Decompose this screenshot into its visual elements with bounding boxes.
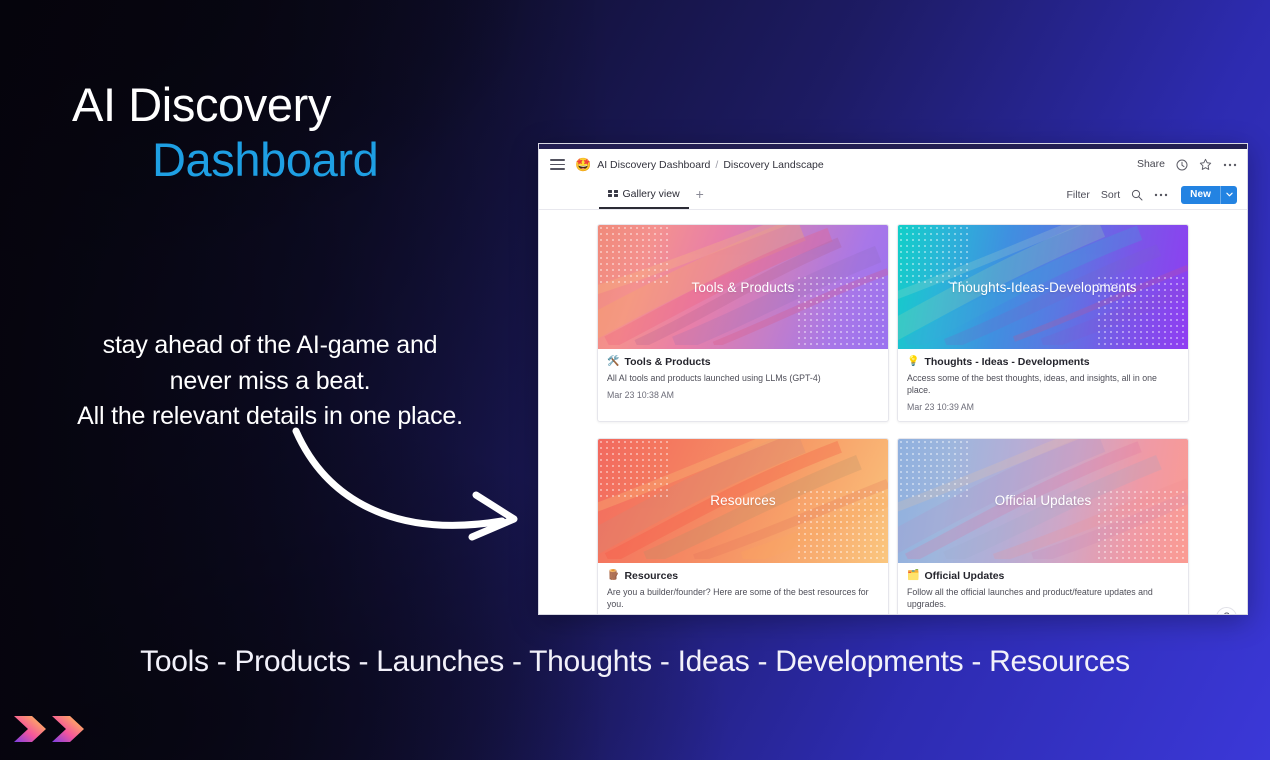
tab-gallery-view-label: Gallery view xyxy=(623,188,680,200)
cover-dot-texture xyxy=(898,225,970,287)
gallery-card[interactable]: Official Updates 🗂️ Official Updates Fol… xyxy=(897,438,1189,615)
page-title: AI Discovery Dashboard xyxy=(72,78,378,187)
cover-dot-texture xyxy=(598,225,670,287)
subcopy-line-2: never miss a beat. xyxy=(0,364,540,400)
card-date: Mar 23 10:39 AM xyxy=(907,402,1179,412)
gallery-grid: Tools & Products 🛠️ Tools & Products All… xyxy=(539,210,1247,615)
tools-emoji-icon: 🛠️ xyxy=(607,357,619,367)
hamburger-menu-icon[interactable] xyxy=(550,159,565,170)
cover-dot-texture xyxy=(1096,489,1188,563)
headline-line-1: AI Discovery xyxy=(72,78,331,131)
card-title: 💡 Thoughts - Ideas - Developments xyxy=(907,356,1179,368)
card-description: All AI tools and products launched using… xyxy=(607,373,879,385)
star-icon[interactable] xyxy=(1199,158,1212,171)
card-index-emoji-icon: 🗂️ xyxy=(907,571,919,581)
card-cover-title: Thoughts-Ideas-Developments xyxy=(949,280,1136,295)
wood-emoji-icon: 🪵 xyxy=(607,571,619,581)
gallery-card[interactable]: Resources 🪵 Resources Are you a builder/… xyxy=(597,438,889,615)
app-window: 🤩 AI Discovery Dashboard / Discovery Lan… xyxy=(538,143,1248,615)
cover-dot-texture xyxy=(598,439,670,501)
card-title-label: Tools & Products xyxy=(624,356,710,368)
subcopy-line-1: stay ahead of the AI-game and xyxy=(0,328,540,364)
double-chevron-logo xyxy=(12,710,88,748)
add-view-button[interactable]: + xyxy=(691,180,709,209)
card-title: 🛠️ Tools & Products xyxy=(607,356,879,368)
card-cover: Resources xyxy=(598,439,888,563)
breadcrumb-workspace[interactable]: AI Discovery Dashboard xyxy=(597,159,710,171)
card-body: 🗂️ Official Updates Follow all the offic… xyxy=(898,563,1188,615)
clock-icon[interactable] xyxy=(1176,159,1188,171)
help-button[interactable]: ? xyxy=(1216,607,1237,616)
share-button[interactable]: Share xyxy=(1137,159,1165,170)
card-cover-title: Tools & Products xyxy=(692,280,795,295)
document-emoji-icon: 🤩 xyxy=(575,158,591,171)
breadcrumb-page[interactable]: Discovery Landscape xyxy=(723,159,823,171)
cover-dot-texture xyxy=(796,489,888,563)
cover-dot-texture xyxy=(898,439,970,501)
cover-dot-texture xyxy=(796,275,888,349)
curved-arrow-icon xyxy=(290,425,550,555)
gallery-card[interactable]: Tools & Products 🛠️ Tools & Products All… xyxy=(597,224,889,422)
breadcrumb-separator: / xyxy=(715,159,718,171)
filter-button[interactable]: Filter xyxy=(1067,189,1090,201)
headline-line-2: Dashboard xyxy=(152,133,378,188)
card-title-label: Official Updates xyxy=(924,570,1004,582)
new-button[interactable]: New xyxy=(1181,186,1237,204)
card-body: 💡 Thoughts - Ideas - Developments Access… xyxy=(898,349,1188,421)
card-cover: Official Updates xyxy=(898,439,1188,563)
card-date: Mar 23 10:38 AM xyxy=(607,390,879,400)
search-icon[interactable] xyxy=(1131,189,1143,201)
card-cover: Thoughts-Ideas-Developments xyxy=(898,225,1188,349)
card-title-label: Resources xyxy=(624,570,678,582)
card-title: 🪵 Resources xyxy=(607,570,879,582)
chevron-down-icon[interactable] xyxy=(1220,186,1237,204)
toolbar-actions: Filter Sort New xyxy=(1067,180,1237,209)
grid-view-icon xyxy=(608,190,618,198)
lightbulb-emoji-icon: 💡 xyxy=(907,357,919,367)
intro-column: AI Discovery Dashboard stay ahead of the… xyxy=(0,0,540,630)
card-cover-title: Official Updates xyxy=(995,493,1092,508)
keywords-strip: Tools - Products - Launches - Thoughts -… xyxy=(0,645,1270,679)
header-actions: Share xyxy=(1137,158,1237,171)
subheadline: stay ahead of the AI-game and never miss… xyxy=(0,328,540,435)
new-button-label: New xyxy=(1181,186,1220,204)
tab-gallery-view[interactable]: Gallery view xyxy=(599,180,689,209)
card-title-label: Thoughts - Ideas - Developments xyxy=(924,356,1089,368)
toolbar-more-options-icon[interactable] xyxy=(1154,193,1168,197)
card-title: 🗂️ Official Updates xyxy=(907,570,1179,582)
card-body: 🛠️ Tools & Products All AI tools and pro… xyxy=(598,349,888,409)
card-body: 🪵 Resources Are you a builder/founder? H… xyxy=(598,563,888,615)
card-description: Follow all the official launches and pro… xyxy=(907,587,1179,611)
view-toolbar: Gallery view + Filter Sort New xyxy=(539,180,1247,210)
app-header: 🤩 AI Discovery Dashboard / Discovery Lan… xyxy=(539,149,1247,180)
more-options-icon[interactable] xyxy=(1223,163,1237,167)
breadcrumb: AI Discovery Dashboard / Discovery Lands… xyxy=(597,159,824,171)
card-description: Access some of the best thoughts, ideas,… xyxy=(907,373,1179,397)
view-tabs: Gallery view + xyxy=(599,180,709,209)
card-description: Are you a builder/founder? Here are some… xyxy=(607,587,879,611)
card-cover-title: Resources xyxy=(710,493,775,508)
card-cover: Tools & Products xyxy=(598,225,888,349)
sort-button[interactable]: Sort xyxy=(1101,189,1120,201)
gallery-card[interactable]: Thoughts-Ideas-Developments 💡 Thoughts -… xyxy=(897,224,1189,422)
